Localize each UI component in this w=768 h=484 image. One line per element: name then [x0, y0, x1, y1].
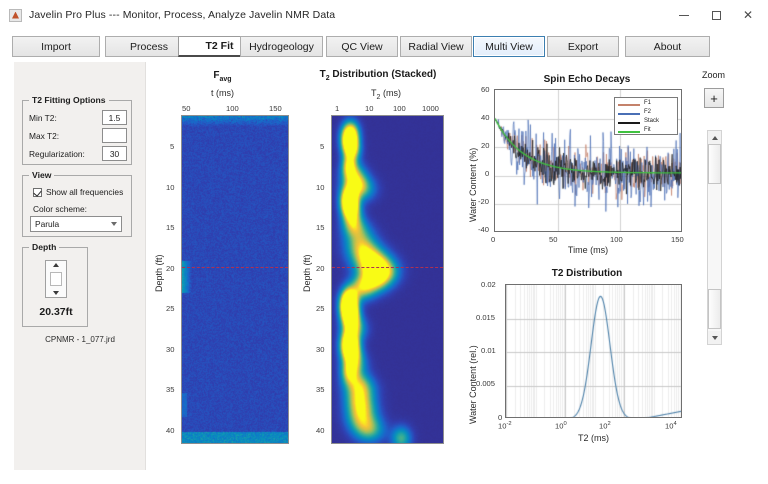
chart-t2-stacked-ytick-30: 30 — [316, 345, 324, 354]
chart-favg-canvas — [182, 116, 289, 444]
chart-favg-ytick-10: 10 — [166, 183, 174, 192]
chart-favg-ytick-5: 5 — [170, 142, 174, 151]
chart-t2-dist-xtick-1-exp: -2 — [506, 421, 511, 427]
chart-spin-echo-ytick--40: -40 — [478, 225, 489, 234]
chart-spin-echo-xtick-150: 150 — [671, 235, 684, 244]
chart-t2-dist-xtick-4: 104 — [665, 421, 677, 431]
chart-t2-stacked-ytick-5: 5 — [320, 142, 324, 151]
max-t2-row: Max T2: — [29, 128, 127, 143]
chart-spin-echo-xtick-0: 0 — [491, 235, 495, 244]
legend-swatch-f2 — [618, 113, 640, 115]
legend-item-f1: F1 — [618, 101, 676, 108]
chart-t2-dist-plot-area[interactable] — [505, 284, 682, 418]
legend-label-stack: Stack — [644, 118, 659, 124]
legend-item-stack: Stack — [618, 119, 676, 126]
chart-favg-xtick-100: 100 — [226, 104, 239, 113]
chart-t2-dist-ytick-001: 0.01 — [481, 346, 496, 355]
depth-group-title: Depth — [29, 242, 59, 252]
chart-t2-stacked-xtick-1: 1 — [335, 104, 339, 113]
chart-favg-xlabel: t (ms) — [150, 88, 295, 98]
t2-fitting-options-title: T2 Fitting Options — [29, 95, 109, 105]
min-t2-label: Min T2: — [29, 113, 57, 123]
scroll-down-button[interactable] — [708, 331, 721, 344]
max-t2-input[interactable] — [102, 128, 127, 143]
window-title: Javelin Pro Plus --- Monitor, Process, A… — [29, 9, 335, 21]
arrow-up-icon — [712, 136, 718, 140]
depth-group: Depth 20.37ft — [22, 247, 88, 327]
color-scheme-label: Color scheme: — [33, 204, 87, 214]
chart-spin-echo-ylabel: Water Content (%) — [468, 148, 478, 222]
color-scheme-select[interactable]: Parula — [30, 216, 122, 232]
chart-t2-stacked: T2 Distribution (Stacked) T2 (ms) 1 10 1… — [298, 62, 458, 462]
chart-spin-echo: Spin Echo Decays Water Content (%) -40 -… — [462, 72, 692, 257]
chart-spin-echo-xlabel: Time (ms) — [494, 245, 682, 255]
show-all-frequencies-row[interactable]: Show all frequencies — [33, 187, 123, 197]
chart-t2-stacked-xtick-100: 100 — [393, 104, 406, 113]
chart-t2-dist-xtick-2: 100 — [555, 421, 567, 431]
depth-spinner-up-icon[interactable] — [53, 263, 59, 267]
title-bar: Javelin Pro Plus --- Monitor, Process, A… — [0, 0, 768, 30]
chart-favg-plot-area[interactable] — [181, 115, 289, 444]
show-all-frequencies-checkbox[interactable] — [33, 188, 42, 197]
chart-t2-stacked-ytick-35: 35 — [316, 385, 324, 394]
chart-favg-depth-marker — [182, 267, 288, 268]
chart-t2-dist-ytick-002: 0.02 — [481, 280, 496, 289]
chart-t2-dist-xtick-1: 10-2 — [498, 421, 512, 431]
left-options-panel: T2 Fitting Options Min T2: 1.5 Max T2: R… — [14, 62, 146, 470]
window-controls: ✕ — [668, 0, 764, 30]
chart-favg-ytick-25: 25 — [166, 304, 174, 313]
chart-spin-echo-ytick-20: 20 — [481, 141, 489, 150]
show-all-frequencies-label: Show all frequencies — [46, 187, 123, 197]
tab-qc-view[interactable]: QC View — [326, 36, 398, 57]
depth-value: 20.37ft — [23, 306, 89, 318]
chart-favg: Favg t (ms) 50 100 150 Depth (ft) 5 10 1… — [150, 62, 295, 462]
chart-t2-stacked-canvas — [332, 116, 444, 444]
chart-spin-echo-ytick--20: -20 — [478, 197, 489, 206]
chart-t2-stacked-depth-marker — [332, 267, 443, 268]
regularization-row: Regularization: 30 — [29, 146, 127, 161]
chart-t2-stacked-xtick-10: 10 — [365, 104, 373, 113]
chart-t2-stacked-ytick-10: 10 — [316, 183, 324, 192]
tab-multi-view[interactable]: Multi View — [473, 36, 545, 57]
chart-spin-echo-ytick-60: 60 — [481, 85, 489, 94]
chart-t2-dist-xlabel: T2 (ms) — [505, 433, 682, 443]
color-scheme-value: Parula — [35, 219, 59, 229]
chart-t2-stacked-ytick-25: 25 — [316, 304, 324, 313]
scrollbar-thumb-top[interactable] — [708, 144, 721, 184]
legend-label-f1: F1 — [644, 100, 651, 106]
chart-spin-echo-xtick-100: 100 — [610, 235, 623, 244]
scroll-up-button[interactable] — [708, 131, 721, 144]
chart-t2-dist-xtick-4-exp: 4 — [673, 421, 676, 427]
chart-t2-dist-xtick-3-exp: 2 — [607, 421, 610, 427]
chart-favg-ytick-35: 35 — [166, 385, 174, 394]
chevron-down-icon — [111, 222, 117, 226]
legend-label-fit: Fit — [644, 127, 651, 133]
zoom-in-button[interactable]: + — [704, 88, 724, 108]
tab-hydrogeology[interactable]: Hydrogeology — [240, 36, 323, 57]
chart-favg-ytick-20: 20 — [166, 264, 174, 273]
legend-item-f2: F2 — [618, 110, 676, 117]
view-group: View Show all frequencies Color scheme: … — [22, 175, 132, 237]
chart-spin-echo-ytick-0: 0 — [485, 169, 489, 178]
depth-spinner[interactable] — [45, 260, 67, 298]
chart-spin-echo-xtick-50: 50 — [549, 235, 557, 244]
chart-t2-stacked-plot-area[interactable] — [331, 115, 444, 444]
regularization-input[interactable]: 30 — [102, 146, 127, 161]
main-toolbar: Import Process T2 Fit Hydrogeology QC Vi… — [0, 36, 768, 58]
chart-t2-stacked-xlabel: T2 (ms) — [306, 88, 466, 101]
chart-favg-title: Favg — [150, 70, 295, 83]
vertical-scrollbar[interactable] — [707, 130, 722, 345]
min-t2-input[interactable]: 1.5 — [102, 110, 127, 125]
minimize-button[interactable] — [668, 2, 700, 28]
chart-t2-stacked-ytick-40: 40 — [316, 426, 324, 435]
chart-t2-dist-ytick-0015: 0.015 — [476, 313, 495, 322]
chart-favg-xtick-50: 50 — [182, 104, 190, 113]
loaded-filename: CPNMR - 1_077.jrd — [14, 335, 146, 344]
chart-t2-dist: T2 Distribution Water Content (rel.) 0 0… — [462, 266, 692, 461]
chart-favg-ylabel: Depth (ft) — [154, 254, 164, 292]
chart-favg-ytick-40: 40 — [166, 426, 174, 435]
min-t2-row: Min T2: 1.5 — [29, 110, 127, 125]
tab-export[interactable]: Export — [547, 36, 619, 57]
chart-favg-title-sub: avg — [220, 76, 232, 83]
maximize-button[interactable] — [700, 2, 732, 28]
tab-import[interactable]: Import — [12, 36, 100, 57]
chart-favg-ytick-15: 15 — [166, 223, 174, 232]
depth-spinner-track[interactable] — [50, 272, 62, 286]
regularization-label: Regularization: — [29, 149, 85, 159]
tab-radial-view[interactable]: Radial View — [400, 36, 472, 57]
chart-favg-ytick-30: 30 — [166, 345, 174, 354]
chart-spin-echo-legend: F1 F2 Stack Fit — [614, 97, 678, 135]
legend-swatch-f1 — [618, 104, 640, 106]
max-t2-label: Max T2: — [29, 131, 59, 141]
depth-spinner-down-icon[interactable] — [53, 291, 59, 295]
chart-t2-stacked-ytick-15: 15 — [316, 223, 324, 232]
chart-t2-stacked-title: T2 Distribution (Stacked) — [298, 69, 458, 82]
t2-fitting-options-group: T2 Fitting Options Min T2: 1.5 Max T2: R… — [22, 100, 132, 165]
arrow-down-icon — [712, 336, 718, 340]
tab-about[interactable]: About — [625, 36, 710, 57]
chart-t2-dist-canvas — [506, 285, 682, 418]
chart-t2-dist-ytick-0005: 0.005 — [476, 379, 495, 388]
view-group-title: View — [29, 170, 54, 180]
chart-t2-dist-title: T2 Distribution — [487, 268, 687, 279]
legend-swatch-fit — [618, 131, 640, 133]
chart-favg-xtick-150: 150 — [269, 104, 282, 113]
legend-swatch-stack — [618, 122, 640, 124]
chart-t2-dist-xtick-2-exp: 0 — [563, 421, 566, 427]
close-button[interactable]: ✕ — [732, 2, 764, 28]
chart-t2-stacked-ylabel: Depth (ft) — [302, 254, 312, 292]
chart-t2-stacked-title-rest: Distribution (Stacked) — [330, 69, 437, 80]
legend-label-f2: F2 — [644, 109, 651, 115]
chart-t2-stacked-xlabel-rest: (ms) — [380, 88, 401, 98]
scrollbar-thumb-bottom[interactable] — [708, 289, 721, 329]
legend-item-fit: Fit — [618, 128, 676, 135]
chart-t2-stacked-ytick-20: 20 — [316, 264, 324, 273]
application-window: Javelin Pro Plus --- Monitor, Process, A… — [0, 0, 768, 484]
chart-t2-stacked-xtick-1000: 1000 — [422, 104, 439, 113]
zoom-label: Zoom — [702, 70, 725, 80]
close-icon: ✕ — [743, 9, 753, 21]
app-icon — [9, 9, 22, 22]
chart-spin-echo-ytick-40: 40 — [481, 113, 489, 122]
chart-t2-dist-xtick-3: 102 — [599, 421, 611, 431]
chart-spin-echo-title: Spin Echo Decays — [487, 74, 687, 85]
